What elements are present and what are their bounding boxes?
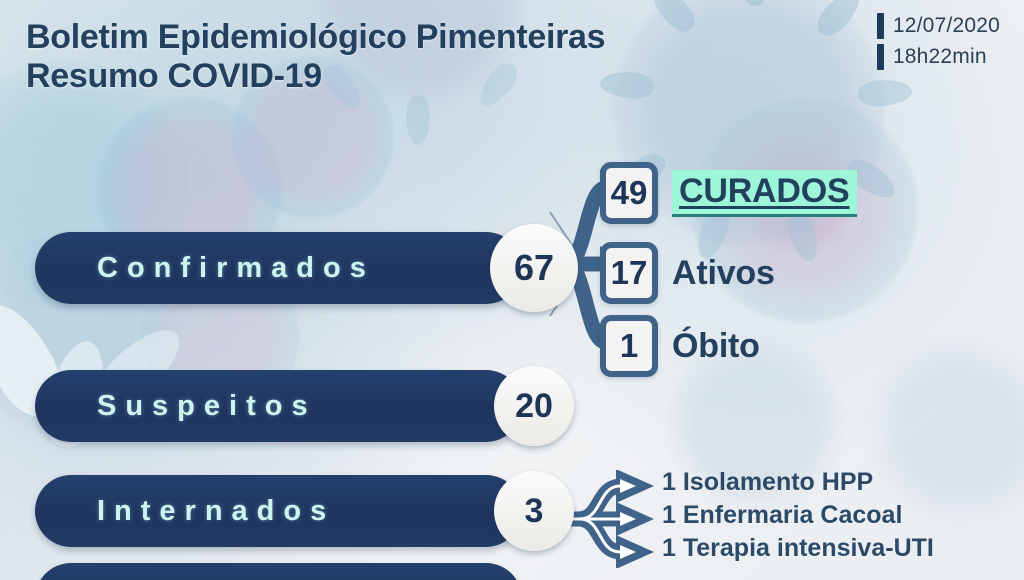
metric-value: 67 (514, 247, 554, 289)
report-time: 18h22min (893, 45, 987, 69)
internados-breakdown-item: 1 Isolamento HPP (662, 466, 934, 499)
metric-value-badge-internados: 3 (494, 471, 574, 551)
metric-label: Internados (97, 495, 335, 528)
metric-value: 20 (515, 387, 553, 426)
infographic-canvas: Boletim Epidemiológico Pimenteiras Resum… (0, 0, 1024, 580)
metric-label: Confirmados (97, 252, 375, 285)
outcome-label-curados: CURADOS (672, 170, 857, 217)
outcome-row-curados[interactable]: 49CURADOS (600, 162, 857, 224)
internados-breakdown-item: 1 Enfermaria Cacoal (662, 499, 934, 532)
metric-label: Suspeitos (97, 390, 317, 423)
accent-bar-icon (877, 44, 884, 70)
outcome-row-ativos[interactable]: 17Ativos (600, 242, 775, 304)
outcome-label-ativos: Ativos (672, 254, 775, 293)
metric-pill-confirmados[interactable]: Confirmados (35, 232, 522, 304)
outcome-value-box-ativos: 17 (600, 242, 658, 304)
report-date: 12/07/2020 (893, 14, 1000, 38)
metric-value-badge-confirmados: 67 (490, 224, 578, 312)
metric-pill-suspeitos[interactable]: Suspeitos (35, 370, 522, 442)
timestamp-block: 12/07/2020 18h22min (877, 10, 1000, 72)
outcome-value: 1 (620, 327, 638, 365)
outcome-label-obito: Óbito (672, 327, 760, 366)
time-row: 18h22min (877, 41, 1000, 72)
outcome-row-obito[interactable]: 1Óbito (600, 315, 760, 377)
outcome-value: 49 (611, 174, 648, 212)
metric-value: 3 (525, 492, 544, 531)
outcome-value-box-obito: 1 (600, 315, 658, 377)
outcome-value: 17 (611, 254, 648, 292)
internados-breakdown-list: 1 Isolamento HPP1 Enfermaria Cacoal1 Ter… (662, 466, 934, 565)
metric-pill-cut-off-row[interactable] (35, 563, 522, 580)
internados-breakdown-item: 1 Terapia intensiva-UTI (662, 532, 934, 565)
metric-value-badge-suspeitos: 20 (494, 366, 574, 446)
page-title: Boletim Epidemiológico Pimenteiras Resum… (26, 18, 605, 97)
accent-bar-icon (877, 13, 884, 39)
date-row: 12/07/2020 (877, 10, 1000, 41)
outcome-value-box-curados: 49 (600, 162, 658, 224)
metric-pill-internados[interactable]: Internados (35, 475, 522, 547)
